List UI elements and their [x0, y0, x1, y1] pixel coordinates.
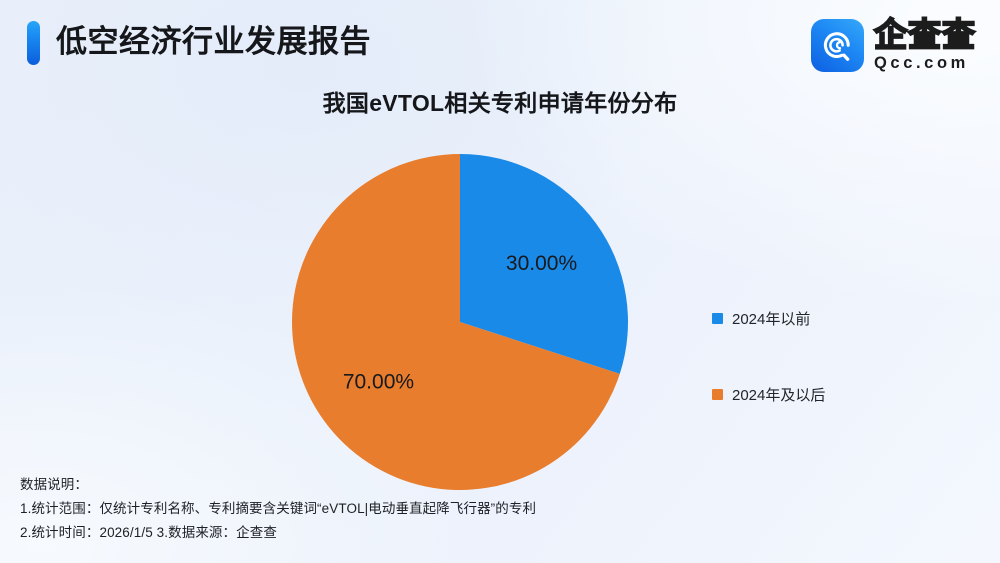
brand-name-cn: 企查查 [874, 17, 976, 53]
pie-slice-label-0: 30.00% [506, 252, 577, 275]
report-page: 低空经济行业发展报告 企查查 Qcc.com 我国eVTOL相关专利申请年份分布 [0, 0, 1000, 563]
pie-chart: 30.00%70.00% 2024年以前 2024年及以后 [0, 130, 1000, 490]
page-title: 低空经济行业发展报告 [56, 19, 371, 65]
chart-legend: 2024年以前 2024年及以后 [712, 308, 932, 404]
legend-label-1: 2024年及以后 [732, 384, 825, 405]
notes-line-1: 1.统计范围：仅统计专利名称、专利摘要含关键词“eVTOL|电动垂直起降飞行器”… [20, 497, 960, 521]
notes-heading: 数据说明： [20, 473, 960, 497]
brand-name-en: Qcc.com [874, 54, 976, 73]
title-accent-bar [27, 21, 40, 65]
legend-swatch-icon-0 [712, 313, 723, 324]
legend-item-1[interactable]: 2024年及以后 [712, 384, 932, 404]
notes-line-2: 2.统计时间：2026/1/5 3.数据来源：企查查 [20, 521, 960, 545]
brand-logo[interactable]: 企查查 Qcc.com [811, 17, 976, 73]
legend-swatch-icon-1 [712, 389, 723, 400]
qcc-logo-icon [811, 19, 864, 72]
pie-graphic: 30.00%70.00% [290, 152, 630, 492]
legend-label-0: 2024年以前 [732, 308, 810, 329]
chart-title: 我国eVTOL相关专利申请年份分布 [0, 84, 1000, 118]
page-header: 低空经济行业发展报告 企查查 Qcc.com [0, 0, 1000, 88]
data-notes: 数据说明： 1.统计范围：仅统计专利名称、专利摘要含关键词“eVTOL|电动垂直… [20, 473, 960, 545]
legend-item-0[interactable]: 2024年以前 [712, 308, 932, 328]
pie-slice-label-1: 70.00% [343, 370, 414, 393]
brand-wordmark: 企查查 Qcc.com [874, 17, 976, 73]
